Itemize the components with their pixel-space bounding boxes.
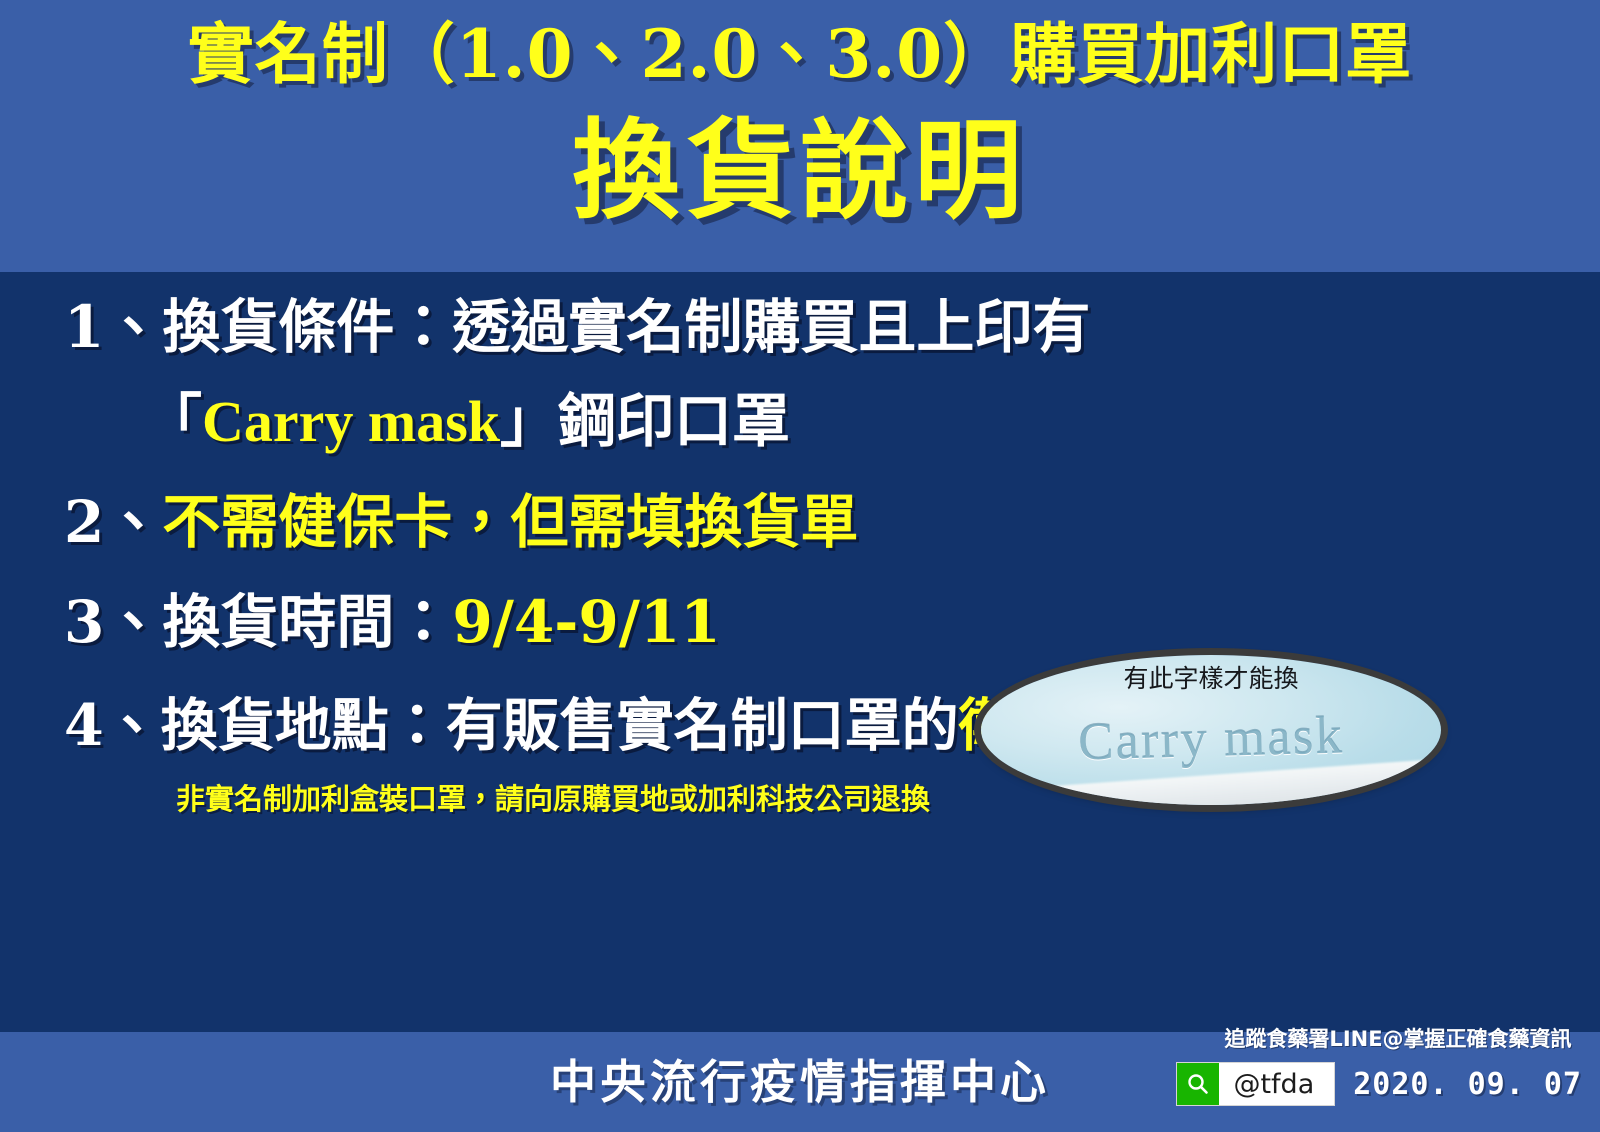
list-item-tail: 鋼印口罩	[558, 387, 790, 455]
list-item-label: 換貨地點：有販售實名制口罩的	[161, 692, 959, 759]
line-promo-text: 追蹤食藥署LINE@掌握正確食藥資訊	[1218, 1026, 1578, 1052]
search-icon	[1177, 1063, 1219, 1105]
exchange-date-highlight: 9/4-9/11	[452, 588, 720, 656]
tfda-id-label: @tfda	[1219, 1069, 1334, 1100]
list-item-number: 4、	[64, 692, 161, 759]
list-item-number: 2、	[64, 488, 162, 556]
list-item-continuation: 「Carry mask」鋼印口罩	[64, 384, 1544, 459]
tfda-line-badge[interactable]: @tfda 2020. 09. 07	[1176, 1062, 1582, 1106]
poster-subtitle: 實名制（1.0、2.0、3.0）購買加利口罩	[188, 6, 1412, 102]
list-item: 2、不需健保卡，但需填換貨單	[64, 485, 1544, 559]
page-title: 換貨說明	[572, 96, 1028, 246]
publish-date: 2020. 09. 07	[1353, 1067, 1582, 1102]
mask-embossed-text: Carry mask	[981, 703, 1441, 775]
carry-mask-highlight: Carry mask	[202, 389, 500, 454]
list-item-number: 3、	[64, 588, 162, 656]
poster-root: 實名制（1.0、2.0、3.0）購買加利口罩 換貨說明 1、換貨條件：透過實名制…	[0, 0, 1600, 1132]
body-area: 1、換貨條件：透過實名制購買且上印有 「Carry mask」鋼印口罩 2、不需…	[0, 272, 1600, 1032]
list-item: 3、換貨時間：9/4-9/11	[64, 585, 1544, 659]
tfda-id-box[interactable]: @tfda	[1176, 1062, 1335, 1106]
close-quote: 」	[500, 387, 558, 455]
footer-band: 中央流行疫情指揮中心 追蹤食藥署LINE@掌握正確食藥資訊 @tfda 2020…	[0, 1032, 1600, 1132]
list-item: 1、換貨條件：透過實名制購買且上印有	[64, 290, 1544, 364]
list-item-label: 換貨時間：	[162, 588, 452, 656]
mask-photo-caption: 有此字樣才能換	[981, 659, 1441, 695]
header-band: 實名制（1.0、2.0、3.0）購買加利口罩 換貨說明	[0, 0, 1600, 272]
list-item-label: 換貨條件：透過實名制購買且上印有	[162, 293, 1090, 361]
mask-photo-oval: Carry mask 有此字樣才能換	[981, 655, 1441, 805]
list-item-label: 不需健保卡，但需填換貨單	[162, 488, 858, 556]
list-item-number: 1、	[64, 293, 162, 361]
open-quote: 「	[144, 387, 202, 455]
